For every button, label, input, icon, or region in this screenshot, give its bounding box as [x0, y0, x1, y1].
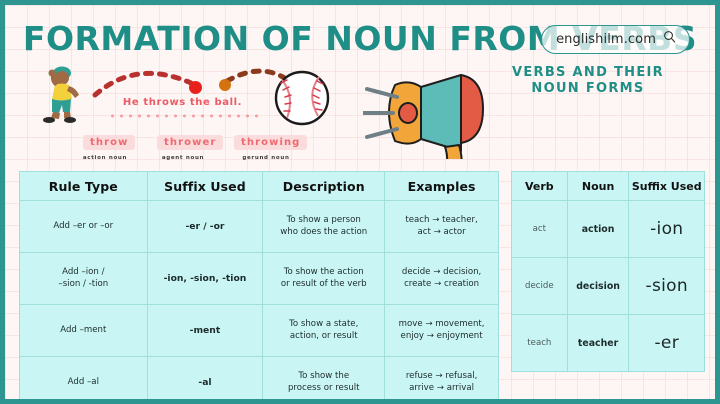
column-header-suffix-used: Suffix Used — [147, 172, 263, 201]
ball-red-icon — [189, 81, 202, 94]
dotted-underline — [108, 114, 260, 118]
cell-description: To show a state, action, or result — [263, 305, 385, 357]
cell-suffix: -er / -or — [147, 201, 263, 253]
cell-suffix: -ment — [147, 305, 263, 357]
cell-rule-type: Add –ment — [20, 305, 148, 357]
column-header-description: Description — [263, 172, 385, 201]
brand-label: englishilm.com — [556, 32, 656, 47]
chip-label-agent-noun: agent noun — [151, 155, 215, 161]
cell-rule-type: Add –er or –or — [20, 201, 148, 253]
word-chip-thrower: thrower — [157, 135, 223, 150]
cell-noun: action — [567, 201, 629, 258]
cell-examples: teach → teacher, act → actor — [385, 201, 499, 253]
cell-verb: teach — [512, 315, 568, 372]
verbs-table: Verb Noun Suffix Used act action -ion de… — [511, 171, 705, 372]
description-line-2: action, or result — [267, 331, 380, 343]
table-row: Add –er or –or -er / -or To show a perso… — [20, 201, 499, 253]
cell-verb: act — [512, 201, 568, 258]
search-icon — [663, 30, 676, 48]
table-row: act action -ion — [512, 201, 705, 258]
table-row: decide decision -sion — [512, 258, 705, 315]
column-header-suffix-used: Suffix Used — [629, 172, 705, 201]
description-line-2: or result of the verb — [267, 279, 380, 291]
cell-suffix: -ion — [629, 201, 705, 258]
ball-orange-icon — [219, 79, 231, 91]
example-line-2: act → actor — [389, 227, 494, 239]
cell-verb: decide — [512, 258, 568, 315]
example-line-2: arrive → arrival — [389, 383, 494, 395]
cell-rule-type: Add –al — [20, 357, 148, 404]
cell-rule-type: Add –ion / –sion / -tion — [20, 253, 148, 305]
illustration-band: He throws the ball. — [5, 61, 720, 169]
description-line-2: who does the action — [267, 227, 380, 239]
table-row: Add –al -al To show the process or resul… — [20, 357, 499, 404]
example-line-1: teach → teacher, — [389, 215, 494, 227]
cell-description: To show the process or result — [263, 357, 385, 404]
example-line-2: enjoy → enjoyment — [389, 331, 494, 343]
description-line-2: process or result — [267, 383, 380, 395]
cell-examples: decide → decision, create → creation — [385, 253, 499, 305]
description-line-1: To show the action — [267, 267, 380, 279]
cell-suffix: -ion, -sion, -tion — [147, 253, 263, 305]
description-line-1: To show a person — [267, 215, 380, 227]
example-line-1: move → movement, — [389, 319, 494, 331]
cell-examples: refuse → refusal, arrive → arrival — [385, 357, 499, 404]
chip-label-action-noun: action noun — [73, 155, 137, 161]
rule-line-2: –sion / -tion — [24, 279, 143, 291]
table-row: teach teacher -er — [512, 315, 705, 372]
column-header-examples: Examples — [385, 172, 499, 201]
megaphone-icon — [363, 67, 503, 159]
word-chip-throw: throw — [83, 135, 135, 150]
cell-examples: move → movement, enjoy → enjoyment — [385, 305, 499, 357]
example-line-1: refuse → refusal, — [389, 371, 494, 383]
table-header-row: Rule Type Suffix Used Description Exampl… — [20, 172, 499, 201]
description-line-1: To show the — [267, 371, 380, 383]
example-sentence: He throws the ball. — [110, 97, 255, 108]
rules-table: Rule Type Suffix Used Description Exampl… — [19, 171, 499, 404]
infographic-page: FORMATION OF NOUN FROM VERBS englishilm.… — [0, 0, 720, 404]
throw-arc-left-icon — [91, 61, 201, 101]
cell-suffix: -er — [629, 315, 705, 372]
brand-badge[interactable]: englishilm.com — [541, 25, 690, 54]
chip-label-gerund-noun: gerund noun — [231, 155, 301, 161]
example-line-2: create → creation — [389, 279, 494, 291]
cell-description: To show the action or result of the verb — [263, 253, 385, 305]
table-header-row: Verb Noun Suffix Used — [512, 172, 705, 201]
cell-suffix: -al — [147, 357, 263, 404]
column-header-verb: Verb — [512, 172, 568, 201]
column-header-rule-type: Rule Type — [20, 172, 148, 201]
rule-line-1: Add –ion / — [24, 267, 143, 279]
table-row: Add –ment -ment To show a state, action,… — [20, 305, 499, 357]
cell-noun: decision — [567, 258, 629, 315]
table-row: Add –ion / –sion / -tion -ion, -sion, -t… — [20, 253, 499, 305]
cell-suffix: -sion — [629, 258, 705, 315]
baseball-icon — [273, 69, 331, 127]
column-header-noun: Noun — [567, 172, 629, 201]
cell-description: To show a person who does the action — [263, 201, 385, 253]
cell-noun: teacher — [567, 315, 629, 372]
word-chip-throwing: throwing — [234, 135, 307, 150]
example-line-1: decide → decision, — [389, 267, 494, 279]
description-line-1: To show a state, — [267, 319, 380, 331]
boy-throwing-icon — [33, 65, 89, 123]
